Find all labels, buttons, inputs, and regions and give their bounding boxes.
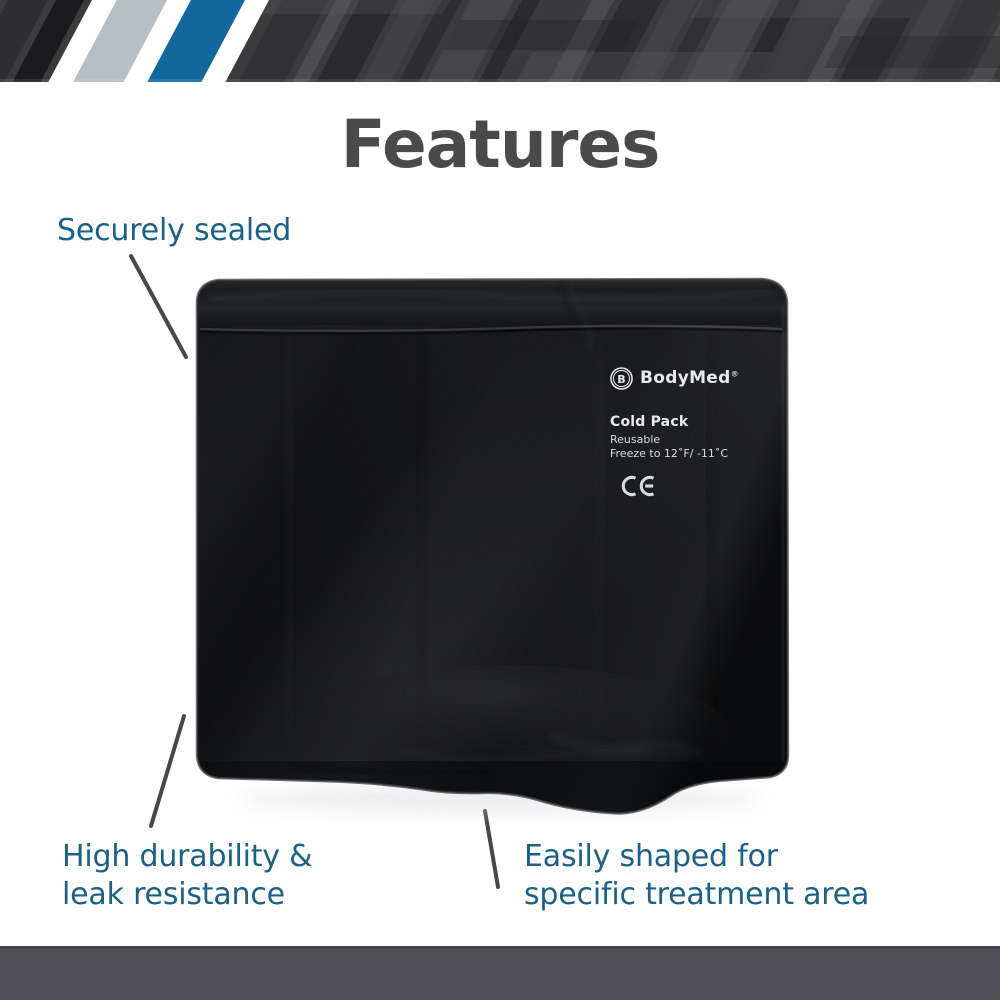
brand-row: B BodyMed® xyxy=(610,366,790,390)
footer-bar xyxy=(0,946,1000,1000)
registered-mark: ® xyxy=(731,369,739,378)
svg-text:B: B xyxy=(617,372,625,385)
page-title: Features xyxy=(0,112,1000,178)
callout-easily-shaped: Easily shaped for specific treatment are… xyxy=(524,838,869,915)
callout-securely-sealed: Securely sealed xyxy=(57,212,291,250)
bodymed-logo-icon: B xyxy=(610,367,633,390)
product-name: Cold Pack xyxy=(610,415,790,430)
infographic-page: Features xyxy=(0,0,1000,1000)
header-banner xyxy=(0,0,1000,82)
product-attribute-freeze-temp: Freeze to 12˚F/ -11˚C xyxy=(610,447,790,461)
brand-name: BodyMed xyxy=(640,368,731,388)
product-attribute-reusable: Reusable xyxy=(610,433,790,447)
brand-wordmark: BodyMed® xyxy=(640,370,739,387)
ce-mark-icon xyxy=(619,475,663,497)
product-label: B BodyMed® Cold Pack Reusable Freeze to … xyxy=(610,366,790,502)
callout-high-durability: High durability & leak resistance xyxy=(62,838,312,915)
product-photo xyxy=(170,265,810,830)
